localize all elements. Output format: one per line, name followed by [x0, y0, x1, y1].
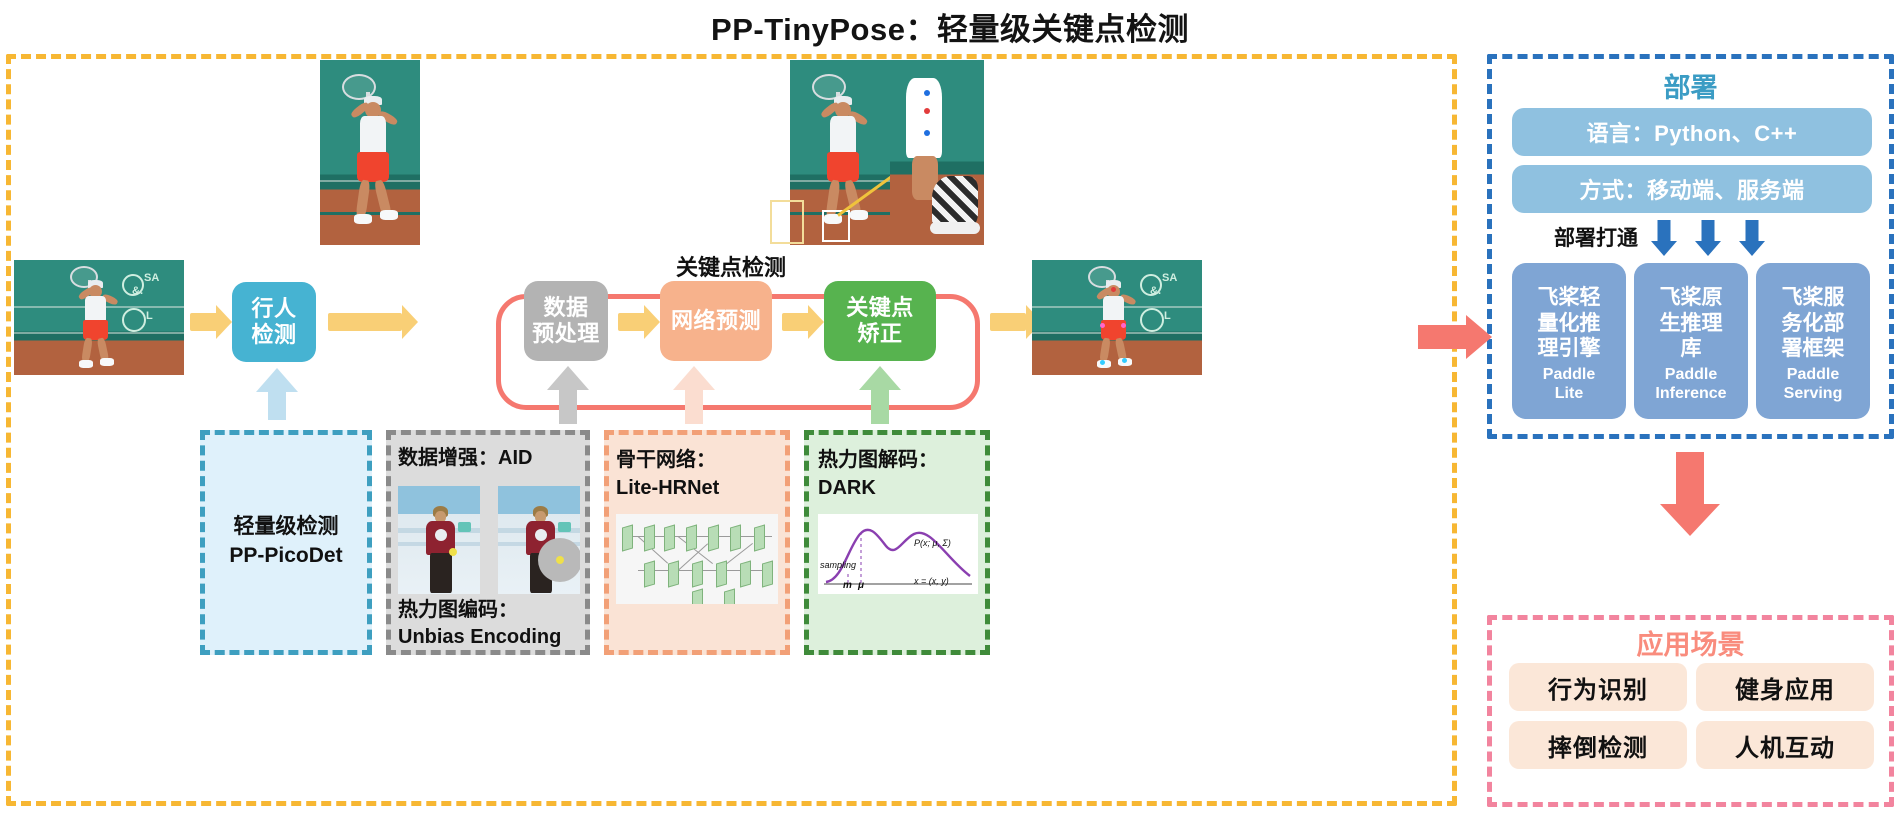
stage-keypoint-refine[interactable]: 关键点 矫正 — [824, 281, 936, 361]
deploy-down-arrow-1 — [1651, 220, 1677, 256]
stage-preprocess[interactable]: 数据 预处理 — [524, 281, 608, 361]
input-photo: SA &. L — [14, 260, 184, 375]
aid-thumb-original — [398, 486, 480, 594]
deploy-col-1-cn: 飞桨原 生推理 库 — [1634, 285, 1748, 362]
deploy-language-label: 语言：Python、C++ — [1587, 116, 1798, 148]
dark-label-mu: μ — [858, 580, 864, 591]
up-arrow-dark — [859, 366, 901, 424]
app-chip-3-label: 人机互动 — [1735, 728, 1835, 763]
aid-footer-line1: 热力图编码： — [398, 598, 518, 623]
foot-bounding-box — [822, 210, 850, 242]
aid-footer-line2: Unbias Encoding — [398, 625, 561, 650]
crop-region-indicator — [770, 200, 804, 244]
picodet-line2: PP-PicoDet — [200, 541, 372, 570]
deploy-col-0-cn2: 量化推 — [1512, 311, 1626, 337]
lite-hrnet-diagram — [616, 514, 778, 604]
flow-arrow-4 — [782, 305, 824, 339]
deploy-col-1-cn2: 生推理 — [1634, 311, 1748, 337]
apps-title: 应用场景 — [1487, 623, 1894, 662]
deploy-col-2-en: Paddle Serving — [1756, 365, 1870, 403]
deploy-mode-label: 方式：移动端、服务端 — [1579, 173, 1804, 205]
deploy-col-2-en2: Serving — [1756, 384, 1870, 403]
backbone-title-line2: Lite-HRNet — [616, 476, 719, 501]
up-arrow-aid — [547, 366, 589, 424]
deploy-column-paddle-lite[interactable]: 飞桨轻 量化推 理引擎 Paddle Lite — [1512, 263, 1626, 419]
app-chip-2-label: 摔倒检测 — [1548, 728, 1648, 763]
deploy-col-2-en1: Paddle — [1756, 365, 1870, 384]
deploy-col-0-cn3: 理引擎 — [1512, 336, 1626, 362]
deploy-col-1-cn1: 飞桨原 — [1634, 285, 1748, 311]
dark-title-line1: 热力图解码： — [818, 448, 938, 473]
dark-chart-svg — [818, 514, 978, 594]
flow-arrow-1 — [190, 305, 232, 339]
deploy-col-0-cn1: 飞桨轻 — [1512, 285, 1626, 311]
deploy-col-2-cn: 飞桨服 务化部 署框架 — [1756, 285, 1870, 362]
deploy-mode-bar[interactable]: 方式：移动端、服务端 — [1512, 165, 1872, 213]
dark-label-m: m — [843, 580, 852, 591]
page-title: PP-TinyPose：轻量级关键点检测 — [0, 4, 1900, 49]
deploy-down-arrow-3 — [1739, 220, 1765, 256]
output-photo: SA &. L — [1032, 260, 1202, 375]
detection-crop-photo — [790, 60, 890, 245]
app-chip-action-recognition[interactable]: 行为识别 — [1509, 663, 1687, 711]
deploy-col-1-en: Paddle Inference — [1634, 365, 1748, 403]
stage-person-detection[interactable]: 行人 检测 — [232, 282, 316, 362]
red-arrow-to-apps — [1660, 452, 1720, 536]
stage-network-label: 网络预测 — [671, 308, 761, 334]
stage-refine-line1: 关键点 — [846, 295, 914, 321]
dark-label-formula: P(x; μ, Σ) — [914, 538, 951, 548]
deploy-down-arrow-2 — [1695, 220, 1721, 256]
deploy-col-0-en1: Paddle — [1512, 365, 1626, 384]
stage-preprocess-line2: 预处理 — [532, 321, 600, 347]
up-arrow-picodet — [256, 368, 298, 420]
flow-arrow-2 — [328, 305, 418, 339]
app-chip-fitness[interactable]: 健身应用 — [1696, 663, 1874, 711]
flow-arrow-3 — [618, 305, 660, 339]
deploy-col-1-cn3: 库 — [1634, 336, 1748, 362]
app-chip-human-computer-interaction[interactable]: 人机互动 — [1696, 721, 1874, 769]
dark-decoding-chart: sampling m μ P(x; μ, Σ) x = (x, y) — [818, 514, 978, 594]
deploy-column-paddle-inference[interactable]: 飞桨原 生推理 库 Paddle Inference — [1634, 263, 1748, 419]
picodet-line1: 轻量级检测 — [200, 512, 372, 541]
backbone-title-line1: 骨干网络： — [616, 448, 716, 473]
up-arrow-backbone — [673, 366, 715, 424]
deploy-col-2-cn1: 飞桨服 — [1756, 285, 1870, 311]
dark-label-x: x = (x, y) — [914, 576, 949, 586]
app-chip-fall-detection[interactable]: 摔倒检测 — [1509, 721, 1687, 769]
stage-network-prediction[interactable]: 网络预测 — [660, 281, 772, 361]
stage-refine-line2: 矫正 — [857, 321, 902, 347]
stage-preprocess-line1: 数据 — [543, 295, 588, 321]
aid-title: 数据增强：AID — [398, 446, 532, 471]
deploy-col-2-cn2: 务化部 — [1756, 311, 1870, 337]
app-chip-0-label: 行为识别 — [1548, 670, 1648, 705]
app-chip-1-label: 健身应用 — [1735, 670, 1835, 705]
dark-label-sampling: sampling — [820, 560, 856, 570]
deploy-title: 部署 — [1487, 66, 1894, 105]
red-arrow-to-deploy — [1418, 315, 1492, 359]
deploy-col-0-cn: 飞桨轻 量化推 理引擎 — [1512, 285, 1626, 362]
deploy-connect-label: 部署打通 — [1554, 222, 1638, 252]
top-input-photo — [320, 60, 420, 245]
stage-person-line1: 行人 — [251, 296, 296, 322]
deploy-col-2-cn3: 署框架 — [1756, 336, 1870, 362]
stage-person-line2: 检测 — [251, 322, 296, 348]
deploy-col-0-en: Paddle Lite — [1512, 365, 1626, 403]
deploy-language-bar[interactable]: 语言：Python、C++ — [1512, 108, 1872, 156]
deploy-col-1-en1: Paddle — [1634, 365, 1748, 384]
deploy-col-0-en2: Lite — [1512, 384, 1626, 403]
deploy-col-1-en2: Inference — [1634, 384, 1748, 403]
keypoint-group-title: 关键点检测 — [676, 250, 786, 282]
zoomed-foot-photo — [890, 60, 984, 245]
aid-thumb-augmented — [498, 486, 580, 594]
deploy-column-paddle-serving[interactable]: 飞桨服 务化部 署框架 Paddle Serving — [1756, 263, 1870, 419]
dark-title-line2: DARK — [818, 476, 876, 501]
